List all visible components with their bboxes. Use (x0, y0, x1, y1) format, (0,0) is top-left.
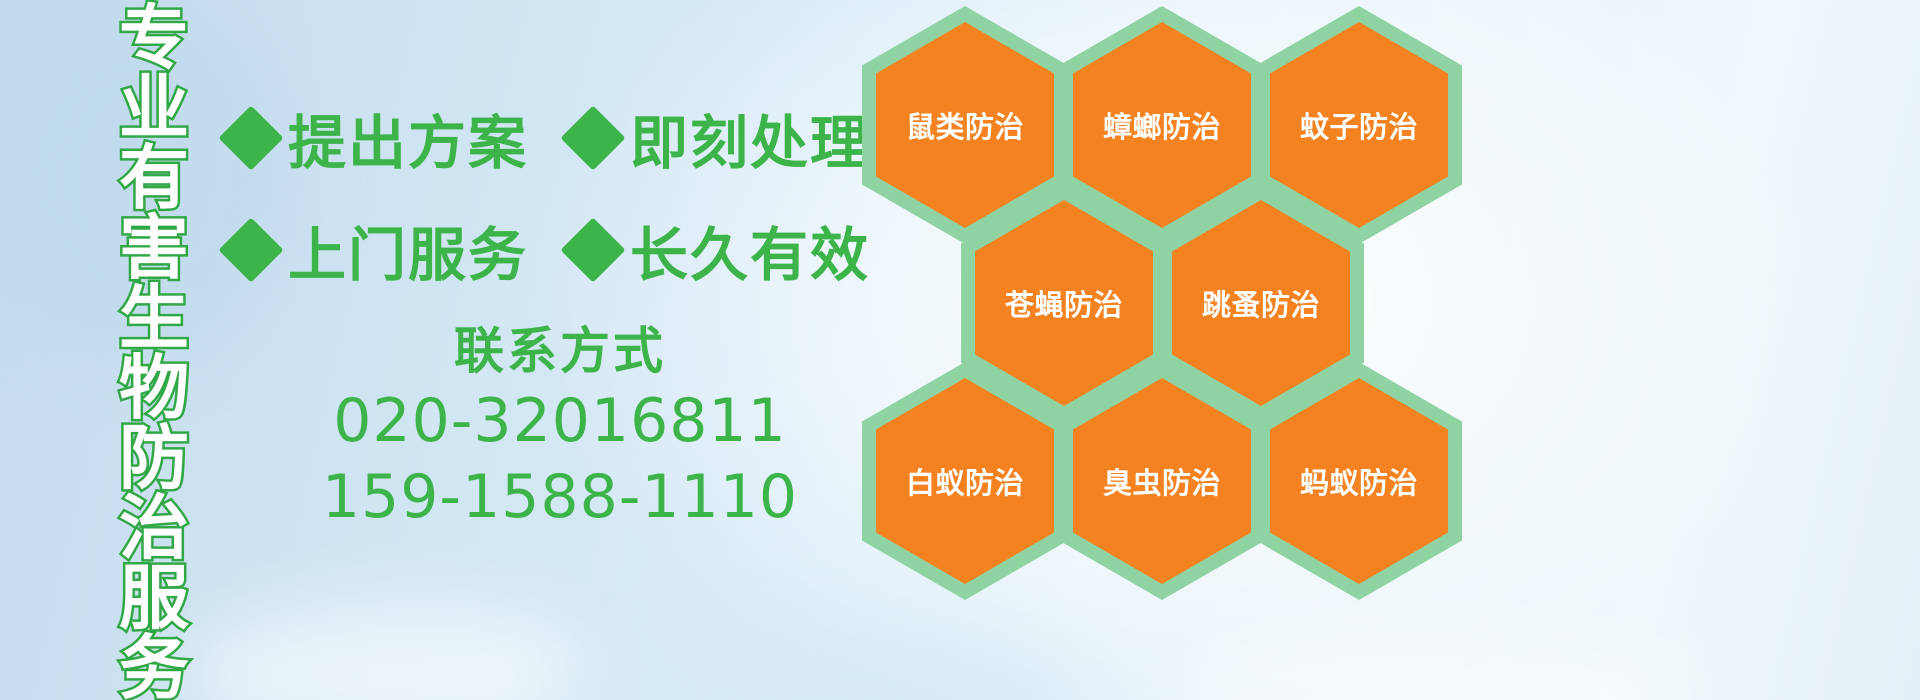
diamond-icon (560, 217, 625, 282)
vertical-headline-char: 害 (119, 214, 189, 284)
service-label: 蚂蚁防治 (1300, 460, 1418, 502)
service-label: 蟑螂防治 (1103, 104, 1221, 146)
contact-block: 联系方式 020-32016811 159-1588-1110 (300, 320, 820, 536)
hexagon-inner: 蚊子防治 (1270, 22, 1448, 228)
vertical-headline-char: 物 (119, 354, 189, 424)
contact-phone-mobile[interactable]: 159-1588-1110 (300, 459, 820, 536)
promo-banner: 专 业 有 害 生 物 防 治 服 务 提出方案 即刻处理 上门服务 (0, 0, 1920, 700)
vertical-headline-char: 专 (119, 4, 189, 74)
hexagon-inner: 苍蝇防治 (975, 200, 1153, 406)
hexagon-inner: 白蚁防治 (876, 378, 1054, 584)
service-hexagon-cluster: 鼠类防治 蟑螂防治 蚊子防治 苍蝇防治 跳蚤防治 白蚁防 (862, 0, 1462, 572)
feature-item: 长久有效 (570, 208, 870, 292)
vertical-headline-char: 防 (119, 424, 189, 494)
contact-title: 联系方式 (300, 320, 820, 383)
hexagon-inner: 鼠类防治 (876, 22, 1054, 228)
diamond-icon (218, 105, 283, 170)
feature-list: 提出方案 即刻处理 上门服务 长久有效 (228, 82, 868, 306)
vertical-headline-char: 有 (119, 144, 189, 214)
feature-label: 长久有效 (630, 208, 870, 292)
service-label: 跳蚤防治 (1202, 282, 1320, 324)
service-label: 臭虫防治 (1103, 460, 1221, 502)
hexagon-inner: 臭虫防治 (1073, 378, 1251, 584)
contact-phone-landline[interactable]: 020-32016811 (300, 383, 820, 460)
feature-item: 即刻处理 (570, 96, 870, 180)
diamond-icon (560, 105, 625, 170)
service-label: 白蚁防治 (906, 460, 1024, 502)
vertical-headline-char: 业 (119, 74, 189, 144)
feature-item: 上门服务 (228, 208, 528, 292)
feature-row: 提出方案 即刻处理 (228, 82, 868, 194)
vertical-headline-char: 治 (119, 494, 189, 564)
vertical-headline-char: 生 (119, 284, 189, 354)
feature-label: 即刻处理 (630, 96, 870, 180)
background-haze (1180, 625, 1700, 700)
feature-label: 上门服务 (288, 208, 528, 292)
hexagon-inner: 蚂蚁防治 (1270, 378, 1448, 584)
vertical-headline-char: 务 (119, 634, 189, 700)
hexagon-inner: 跳蚤防治 (1172, 200, 1350, 406)
hexagon-inner: 蟑螂防治 (1073, 22, 1251, 228)
feature-item: 提出方案 (228, 96, 528, 180)
service-label: 蚊子防治 (1300, 104, 1418, 146)
service-label: 苍蝇防治 (1005, 282, 1123, 324)
vertical-headline: 专 业 有 害 生 物 防 治 服 务 (100, 4, 208, 700)
diamond-icon (218, 217, 283, 282)
service-label: 鼠类防治 (906, 104, 1024, 146)
feature-row: 上门服务 长久有效 (228, 194, 868, 306)
vertical-headline-char: 服 (119, 564, 189, 634)
background-haze (560, 630, 1080, 700)
background-haze (180, 600, 600, 700)
feature-label: 提出方案 (288, 96, 528, 180)
